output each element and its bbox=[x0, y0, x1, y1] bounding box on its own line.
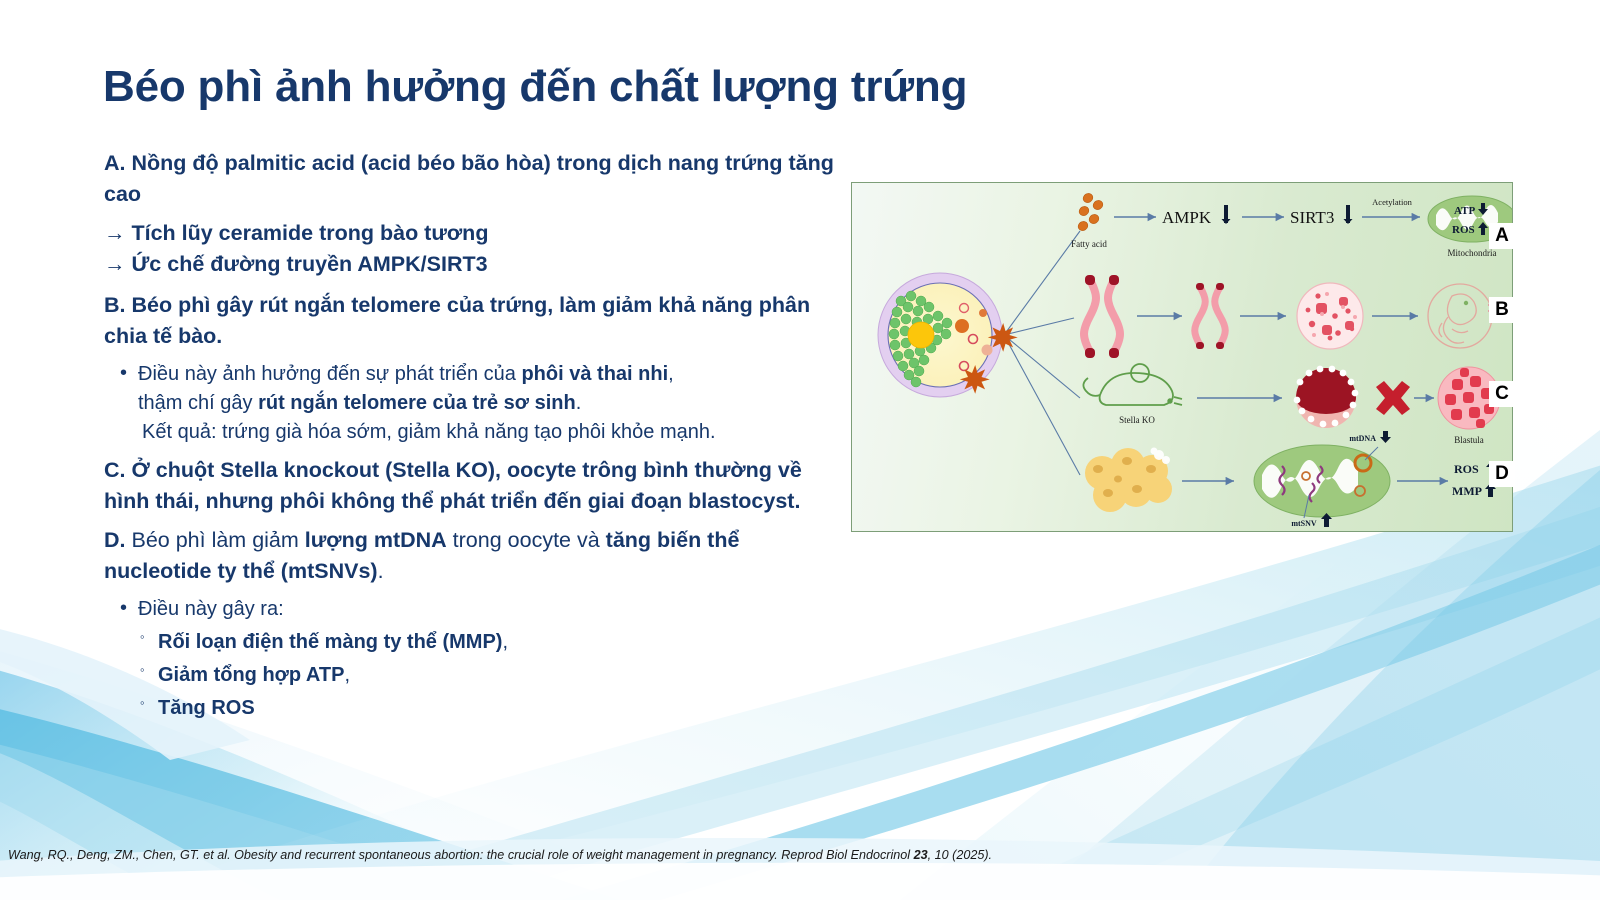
section-d-line2-tail: . bbox=[378, 559, 384, 583]
section-d-bullet-label: Điều này gây ra: bbox=[138, 598, 284, 620]
section-d-subitem-mmp-label: Rối loạn điện thế màng ty thể (MMP) bbox=[158, 631, 502, 653]
figure-diagram: Fatty acid AMPK SIRT3 Acetylation Mitoch… bbox=[852, 183, 1512, 531]
section-b-bullet-bold1: phôi và thai nhi bbox=[521, 363, 668, 385]
atp-down-arrow-icon bbox=[1477, 203, 1489, 216]
citation-volume: 23 bbox=[914, 848, 928, 862]
sirt3-label: SIRT3 bbox=[1290, 208, 1334, 227]
section-b-line1: B. Béo phì gây rút ngắn telomere của trứ… bbox=[104, 293, 695, 317]
adipocyte-cluster-icon bbox=[1085, 448, 1172, 513]
section-b-bullet-line2: thậm chí gây rút ngắn telomere của trẻ s… bbox=[138, 389, 844, 418]
section-a-arrow2: → Ức chế đường truyền AMPK/SIRT3 bbox=[104, 249, 844, 280]
row-b-pathway bbox=[1084, 275, 1508, 358]
section-d-line2-bold: nucleotide ty thể (mtSNVs) bbox=[104, 559, 378, 583]
bullet-dot-icon: • bbox=[120, 359, 127, 388]
section-b-bullet-part3: thậm chí gây bbox=[138, 392, 258, 414]
chromosome-long-icon bbox=[1084, 275, 1120, 358]
fatty-acid-icon bbox=[1076, 192, 1104, 233]
section-b-bullet-bold2: rút ngắn telomere của trẻ sơ sinh bbox=[258, 392, 576, 414]
hollow-bullet-icon: ◦ bbox=[140, 627, 145, 648]
section-b-bullet-part2: , bbox=[668, 363, 674, 385]
section-b-bullet-part4: . bbox=[576, 392, 582, 414]
mitochondria-label: Mitochondria bbox=[1448, 248, 1497, 258]
blastula-label: Blastula bbox=[1454, 435, 1484, 445]
section-c-line3: đoạn blastocyst. bbox=[631, 489, 801, 513]
citation-journal: Reprod Biol Endocrinol bbox=[781, 848, 913, 862]
section-d-bold2: tăng biến thể bbox=[606, 528, 740, 552]
mtdna-down-arrow-icon bbox=[1380, 431, 1391, 443]
blocked-cross-icon bbox=[1376, 381, 1410, 415]
chromosome-short-telomere-icon bbox=[1195, 283, 1226, 349]
section-a: A. Nồng độ palmitic acid (acid béo bão h… bbox=[104, 148, 844, 279]
section-d-subitem-mmp: ◦ Rối loạn điện thế màng ty thể (MMP), bbox=[138, 627, 844, 657]
section-d-prefix: D. bbox=[104, 528, 131, 552]
ampk-down-arrow-icon bbox=[1222, 219, 1231, 224]
failed-embryo-icon bbox=[1294, 366, 1359, 428]
hollow-bullet-icon: ◦ bbox=[140, 660, 145, 681]
section-c-line1: C. Ở chuột Stella knockout (Stella KO), … bbox=[104, 458, 689, 482]
sirt3-down-arrow-icon bbox=[1344, 219, 1353, 224]
ros-a-label: ROS bbox=[1452, 224, 1475, 236]
section-b: B. Béo phì gây rút ngắn telomere của trứ… bbox=[104, 290, 844, 447]
mmp-label: MMP bbox=[1452, 484, 1481, 498]
section-b-bullet-result: Kết quả: trứng già hóa sớm, giảm khả năn… bbox=[138, 418, 844, 447]
section-d-subitem-atp-tail: , bbox=[344, 664, 350, 686]
section-b-text: B. Béo phì gây rút ngắn telomere của trứ… bbox=[104, 290, 844, 351]
section-c: C. Ở chuột Stella knockout (Stella KO), … bbox=[104, 455, 844, 516]
stella-ko-label: Stella KO bbox=[1119, 415, 1155, 425]
panel-tag-b: B bbox=[1489, 297, 1515, 323]
stella-ko-mouse-icon bbox=[1083, 364, 1182, 405]
ampk-label: AMPK bbox=[1162, 208, 1212, 227]
citation: Wang, RQ., Deng, ZM., Chen, GT. et al. O… bbox=[8, 848, 1568, 862]
section-d-text: D. Béo phì làm giảm lượng mtDNA trong oo… bbox=[104, 525, 844, 586]
atp-label: ATP bbox=[1454, 205, 1475, 217]
row-c-pathway: Stella KO bbox=[1083, 364, 1500, 445]
section-d-bullet: • Điều này gây ra: bbox=[118, 595, 844, 624]
citation-title: Obesity and recurrent spontaneous aborti… bbox=[234, 848, 781, 862]
row-a-pathway: Fatty acid AMPK SIRT3 Acetylation Mitoch… bbox=[1071, 192, 1512, 258]
fetus-icon bbox=[1428, 284, 1492, 348]
bullet-dot-icon: • bbox=[120, 594, 127, 623]
embryo-cellmass-icon bbox=[1297, 283, 1363, 349]
section-a-text: A. Nồng độ palmitic acid (acid béo bão h… bbox=[104, 148, 844, 209]
oocyte-illustration bbox=[878, 273, 1018, 397]
ros-d-label: ROS bbox=[1454, 462, 1479, 476]
section-d-bold1: lượng mtDNA bbox=[305, 528, 447, 552]
acetylation-label: Acetylation bbox=[1372, 197, 1412, 207]
ros-up-arrow-icon bbox=[1477, 222, 1489, 235]
section-d: D. Béo phì làm giảm lượng mtDNA trong oo… bbox=[104, 525, 844, 723]
section-d-part2: trong oocyte và bbox=[447, 528, 606, 552]
panel-tag-d: D bbox=[1489, 461, 1515, 487]
mtdna-label: mtDNA bbox=[1349, 434, 1376, 443]
row-d-pathway: mtDNA mtSNV bbox=[1085, 431, 1448, 528]
section-d-subitem-ros-label: Tăng ROS bbox=[158, 697, 255, 719]
mechanism-figure: Fatty acid AMPK SIRT3 Acetylation Mitoch… bbox=[851, 182, 1513, 532]
slide-body-content: A. Nồng độ palmitic acid (acid béo bão h… bbox=[104, 148, 844, 726]
section-a-arrow1: → Tích lũy ceramide trong bào tương bbox=[104, 218, 844, 249]
ros-a-readout: ROS bbox=[1452, 222, 1489, 236]
hollow-bullet-icon: ◦ bbox=[140, 693, 145, 714]
section-d-subitem-ros: ◦ Tăng ROS bbox=[138, 693, 844, 723]
panel-tag-a: A bbox=[1489, 223, 1515, 249]
mtsnv-label: mtSNV bbox=[1291, 519, 1317, 528]
panel-tag-c: C bbox=[1489, 381, 1515, 407]
citation-authors: Wang, RQ., Deng, ZM., Chen, GT. et al. bbox=[8, 848, 234, 862]
page-title: Béo phì ảnh hưởng đến chất lượng trứng bbox=[103, 62, 1103, 111]
section-d-subitem-atp-label: Giảm tổng hợp ATP bbox=[158, 664, 344, 686]
section-d-part1: Béo phì làm giảm bbox=[131, 528, 304, 552]
section-a-line1: A. Nồng độ palmitic acid (acid béo bão h… bbox=[104, 151, 719, 175]
fatty-acid-label: Fatty acid bbox=[1071, 239, 1107, 249]
citation-pages: , 10 (2025). bbox=[928, 848, 992, 862]
section-c-text: C. Ở chuột Stella knockout (Stella KO), … bbox=[104, 455, 844, 516]
section-d-subitem-mmp-tail: , bbox=[502, 631, 508, 653]
section-d-subitem-atp: ◦ Giảm tổng hợp ATP, bbox=[138, 660, 844, 690]
fan-connector-lines bbox=[1004, 231, 1080, 475]
atp-readout: ATP bbox=[1454, 203, 1489, 217]
section-b-bullet: • Điều này ảnh hưởng đến sự phát triển c… bbox=[118, 360, 844, 447]
section-b-bullet-part1: Điều này ảnh hưởng đến sự phát triển của bbox=[138, 363, 521, 385]
